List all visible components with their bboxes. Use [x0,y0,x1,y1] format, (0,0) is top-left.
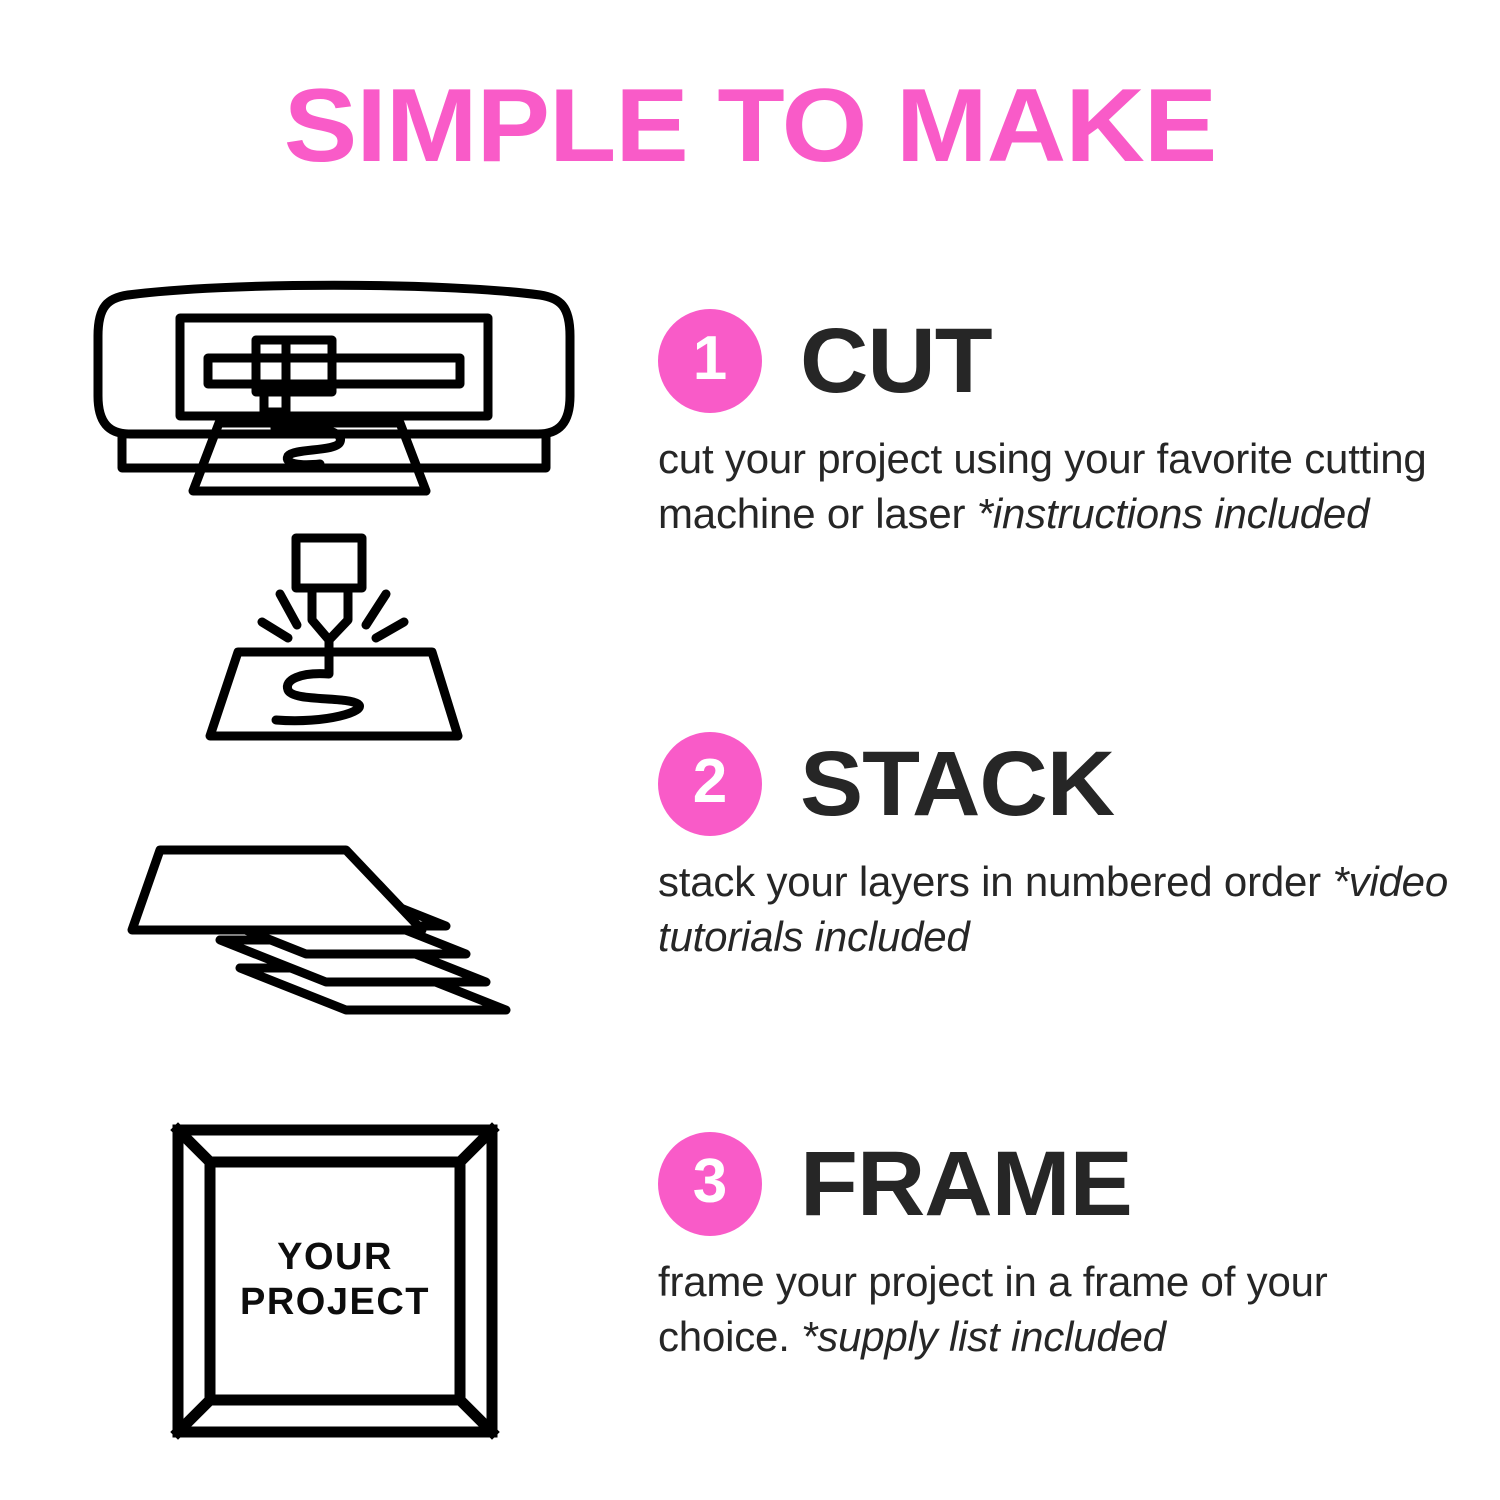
step-number-badge: 1 [658,309,762,413]
step-title: FRAME [800,1138,1132,1230]
step-item-cut: 1 CUT cut your project using your favori… [658,305,1448,542]
step-description: frame your project in a frame of your ch… [658,1254,1448,1365]
step-description: stack your layers in numbered order *vid… [658,854,1448,965]
steps-column: 1 CUT cut your project using your favori… [0,0,1500,1500]
step-header: 2 STACK [658,728,1448,840]
step-title: CUT [800,315,992,407]
step-description-note: *supply list included [801,1313,1166,1360]
step-title: STACK [800,738,1114,830]
step-number-badge: 3 [658,1132,762,1236]
step-header: 1 CUT [658,305,1448,417]
step-description-note: *instructions included [977,490,1370,537]
step-number-badge: 2 [658,732,762,836]
step-item-frame: 3 FRAME frame your project in a frame of… [658,1128,1448,1365]
step-description-plain: stack your layers in numbered order [658,858,1332,905]
step-header: 3 FRAME [658,1128,1448,1240]
step-item-stack: 2 STACK stack your layers in numbered or… [658,728,1448,965]
step-description: cut your project using your favorite cut… [658,431,1448,542]
infographic-page: SIMPLE TO MAKE [0,0,1500,1500]
